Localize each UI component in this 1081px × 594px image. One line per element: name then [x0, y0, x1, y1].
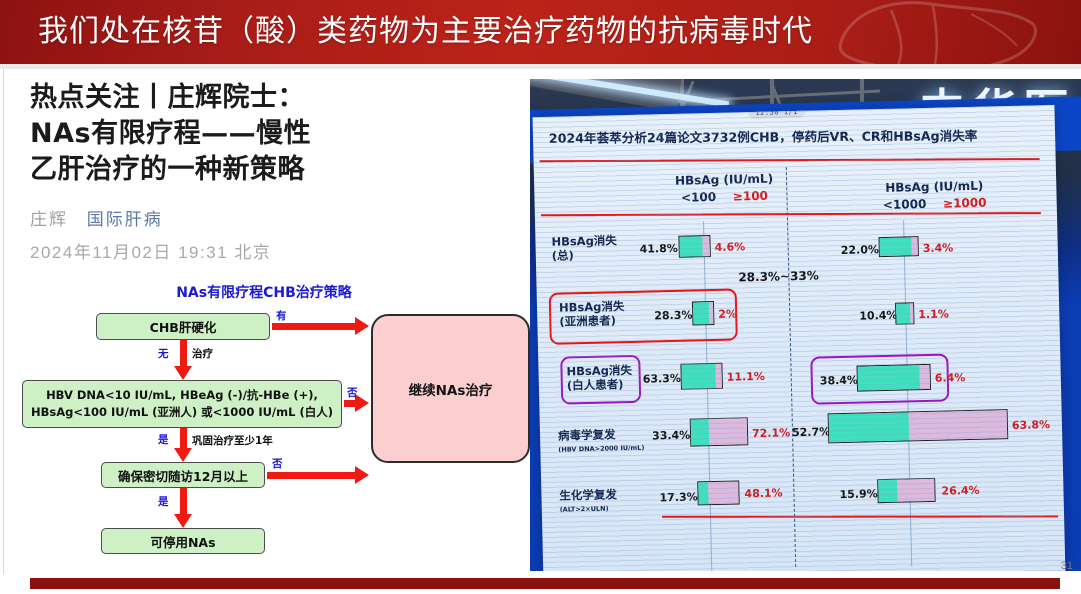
- flow-label-treat: 治疗: [192, 346, 213, 361]
- left-baseline: [703, 221, 712, 571]
- row-label-virologic-relapse-sub: (HBV DNA>2000 IU/mL): [558, 441, 644, 457]
- flow-label-no-2: 否: [272, 456, 283, 471]
- row-label-biochemical-relapse-sub: (ALT>2×ULN): [560, 501, 618, 516]
- bar-pink-seg: [910, 303, 914, 323]
- bar-pink-seg: [703, 236, 710, 256]
- bar-left-r5: [697, 480, 740, 505]
- bar-right-r3: [856, 364, 931, 392]
- flowchart-title: NAs有限疗程CHB治疗策略: [0, 282, 528, 302]
- criteria-line-1: HBV DNA<10 IU/mL, HBeAg (-)/抗-HBe (+),: [31, 387, 333, 404]
- slide-rule-top: [540, 158, 1040, 162]
- right-panel-sub-2: ≥1000: [943, 196, 987, 211]
- value-r-pink-r1: 3.4%: [923, 241, 954, 255]
- value-l-pink-r2: 2%: [718, 307, 737, 320]
- value-r-pink-r5: 26.4%: [941, 484, 979, 498]
- flow-label-none: 无: [158, 346, 169, 361]
- value-l-pink-r5: 48.1%: [744, 486, 782, 500]
- row-label-virologic-relapse-main: 病毒学复发: [558, 427, 616, 442]
- right-panel-header: HBsAg (IU/mL): [834, 177, 1034, 196]
- bar-pink-seg: [709, 302, 714, 324]
- value-r-green-r2: 10.4%: [859, 309, 897, 323]
- slide-header: 我们处在核苷（酸）类药物为主要治疗药物的抗病毒时代: [0, 0, 1081, 64]
- flow-arrow-h-1: [272, 323, 356, 330]
- flow-label-consolidate: 巩固治疗至少1年: [192, 433, 273, 448]
- panel-divider: [786, 167, 796, 567]
- row-label-hbsag-asian: HBsAg消失 (亚洲患者): [559, 299, 625, 329]
- right-panel-subheaders: <1000 ≥1000: [835, 194, 1035, 213]
- slide-rule-bottom: [662, 515, 1058, 518]
- flow-label-yes-2: 是: [158, 494, 169, 509]
- author-name: 庄辉: [30, 210, 68, 229]
- bar-pink-seg: [911, 237, 918, 255]
- value-l-green-r3: 63.3%: [643, 372, 681, 386]
- footer-bar: [30, 578, 1060, 589]
- row-label-hbsag-total: HBsAg消失 (总): [551, 233, 617, 263]
- bar-right-r2: [895, 302, 915, 324]
- row-label-virologic-relapse: 病毒学复发 (HBV DNA>2000 IU/mL): [558, 427, 645, 457]
- bar-pink-seg: [709, 481, 739, 504]
- value-l-green-r1: 41.8%: [640, 242, 678, 256]
- bar-left-r4: [690, 417, 749, 446]
- slide-title: 2024年荟萃分析24篇论文3732例CHB，停药后VR、CR和HBsAg消失率: [549, 128, 1049, 146]
- article-title-line-1: 热点关注丨庄辉院士：: [30, 80, 500, 116]
- value-r-pink-r3: 6.4%: [935, 371, 966, 385]
- value-l-pink-r4: 72.1%: [752, 426, 790, 440]
- value-l-pink-r1: 4.6%: [715, 240, 746, 254]
- byline: 庄辉 国际肝病: [30, 205, 163, 230]
- row-label-hbsag-asian-l2: (亚洲患者): [559, 313, 616, 328]
- value-r-pink-r2: 1.1%: [918, 307, 949, 321]
- value-l-green-r5: 17.3%: [659, 490, 697, 504]
- bar-left-r1: [678, 235, 711, 258]
- page-title: 我们处在核苷（酸）类药物为主要治疗药物的抗病毒时代: [38, 0, 813, 64]
- right-panel-header-text: HBsAg (IU/mL): [885, 179, 983, 195]
- row-label-hbsag-asian-l1: HBsAg消失: [559, 299, 625, 315]
- bar-right-r5: [877, 478, 936, 503]
- bar-green-seg: [879, 237, 911, 256]
- bar-pink-seg: [709, 418, 748, 445]
- flow-node-continue-nas[interactable]: 继续NAs治疗: [371, 314, 530, 463]
- bar-green-seg: [858, 365, 920, 390]
- flow-arrow-h-3: [267, 472, 356, 479]
- left-panel-header-text: HBsAg (IU/mL): [675, 172, 773, 188]
- page-number: 31: [1061, 560, 1073, 572]
- row-label-biochemical-relapse: 生化学复发 (ALT>2×ULN): [559, 487, 617, 516]
- liver-watermark-icon: [821, 0, 1051, 64]
- value-r-green-r1: 22.0%: [841, 243, 879, 257]
- value-l-green-r2: 28.3%: [654, 309, 692, 323]
- value-l-pink-r3: 11.1%: [727, 370, 765, 384]
- slide-rule-mid: [541, 212, 1041, 216]
- bar-left-r3: [680, 363, 723, 390]
- flow-node-stop-nas[interactable]: 可停用NAs: [101, 528, 265, 554]
- left-panel-subheaders: <100 ≥100: [624, 187, 824, 206]
- flow-label-yes-1: 是: [158, 432, 169, 447]
- bar-green-seg: [691, 419, 710, 445]
- bar-left-r2: [692, 301, 715, 326]
- article-title-line-2: NAs有限疗程——慢性: [30, 116, 500, 152]
- bar-green-seg: [681, 364, 716, 389]
- flow-arrow-v-1: [180, 340, 187, 367]
- criteria-line-2: HBsAg<100 IU/mL (亚洲人) 或<1000 IU/mL (白人): [31, 404, 333, 421]
- left-panel-header: HBsAg (IU/mL): [624, 170, 824, 189]
- bar-right-r1: [878, 236, 918, 257]
- row-label-hbsag-total-l2: (总): [552, 248, 574, 263]
- bar-pink-seg: [897, 479, 934, 502]
- header-underline: [0, 64, 1081, 69]
- flow-label-has: 有: [276, 308, 287, 323]
- row-label-hbsag-total-l1: HBsAg消失: [551, 233, 617, 249]
- row-label-biochemical-relapse-main: 生化学复发: [559, 487, 617, 502]
- row-label-hbsag-caucasian-l2: (白人患者): [567, 377, 624, 392]
- flow-arrow-h-2: [344, 400, 356, 407]
- flow-node-criteria[interactable]: HBV DNA<10 IU/mL, HBeAg (-)/抗-HBe (+), H…: [22, 380, 342, 428]
- bar-green-seg: [679, 236, 703, 257]
- article-title: 热点关注丨庄辉院士： NAs有限疗程——慢性 乙肝治疗的一种新策略: [30, 80, 500, 188]
- bar-right-r4: [828, 409, 1009, 443]
- row-label-hbsag-caucasian-l1: HBsAg消失: [566, 363, 632, 379]
- flow-node-followup[interactable]: 确保密切随访12月以上: [101, 462, 265, 488]
- row-label-hbsag-caucasian: HBsAg消失 (白人患者): [566, 363, 632, 393]
- value-r-green-r4: 52.7%: [792, 425, 830, 439]
- bar-green-seg: [878, 480, 898, 502]
- value-l-green-r4: 33.4%: [652, 429, 690, 443]
- value-r-green-r3: 38.4%: [820, 374, 858, 388]
- projected-slide: 12:30 1/1 2024年荟萃分析24篇论文3732例CHB，停药后VR、C…: [533, 105, 1066, 571]
- left-content-pane: 热点关注丨庄辉院士： NAs有限疗程——慢性 乙肝治疗的一种新策略 庄辉 国际肝…: [0, 70, 528, 570]
- flow-node-chb-cirrhosis[interactable]: CHB肝硬化: [96, 313, 270, 340]
- bar-green-seg: [829, 412, 910, 442]
- source-name[interactable]: 国际肝病: [87, 210, 163, 229]
- right-panel-sub-1: <1000: [883, 197, 927, 212]
- bar-pink-seg: [909, 410, 1008, 440]
- bar-green-seg: [896, 303, 910, 323]
- flow-label-no-1: 否: [347, 385, 358, 400]
- bar-green-seg: [693, 302, 710, 324]
- bar-pink-seg: [715, 364, 722, 388]
- left-panel-sub-2: ≥100: [733, 189, 768, 204]
- dateline: 2024年11月02日 19:31 北京: [30, 238, 271, 263]
- article-title-line-3: 乙肝治疗的一种新策略: [30, 152, 500, 188]
- value-r-pink-r4: 63.8%: [1012, 418, 1050, 432]
- bar-green-seg: [698, 482, 709, 504]
- flow-arrow-v-3: [180, 488, 187, 515]
- flowchart: NAs有限疗程CHB治疗策略 CHB肝硬化 HBV DNA<10 IU/mL, …: [0, 282, 528, 582]
- conference-photo: 中华医 12:30 1/1 2024年荟萃分析24篇论文3732例CHB，停药后…: [530, 79, 1081, 571]
- left-panel-sub-1: <100: [681, 190, 716, 205]
- chart-annotation-range: 28.3%~33%: [738, 269, 819, 285]
- flow-arrow-v-2: [180, 428, 187, 449]
- bar-pink-seg: [919, 365, 930, 389]
- value-r-green-r5: 15.9%: [839, 487, 877, 501]
